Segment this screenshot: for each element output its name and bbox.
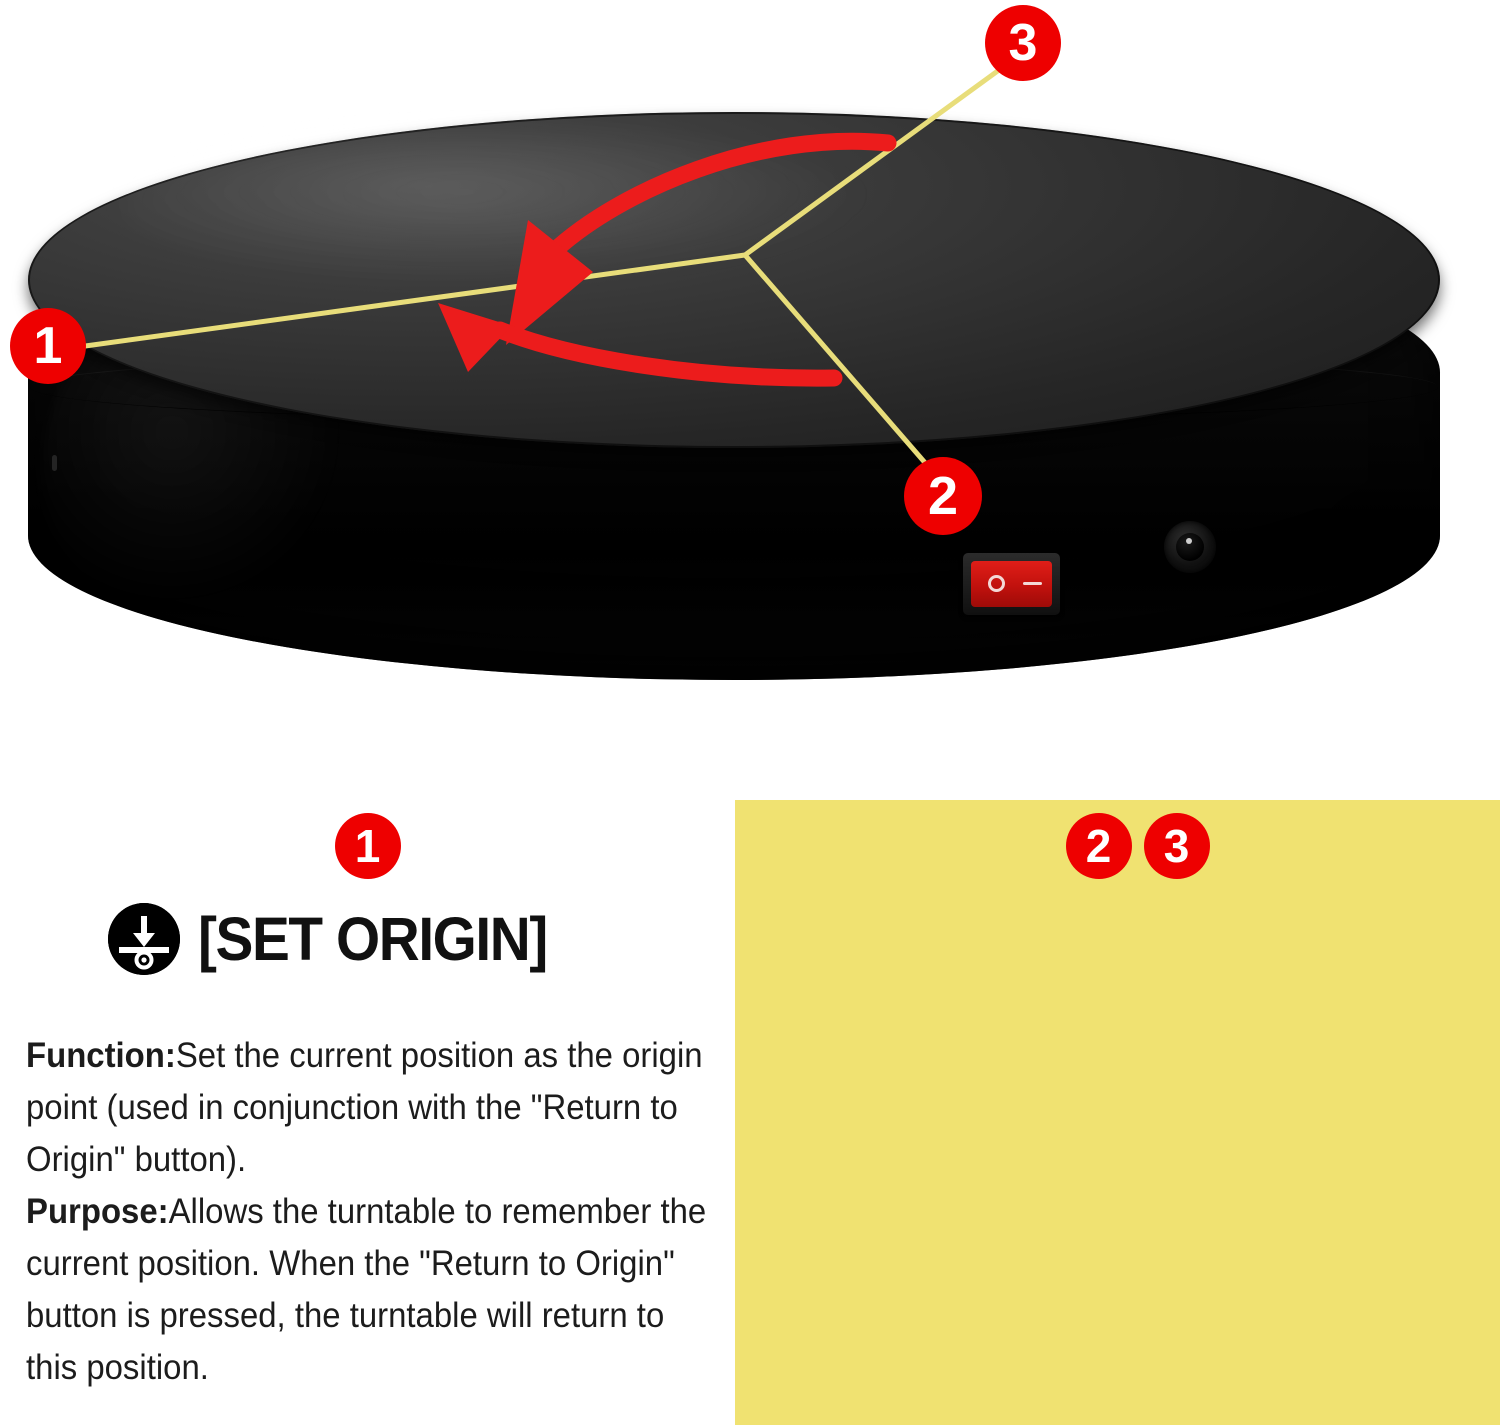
purpose-paragraph-left: Purpose:Allows the turntable to remember…: [26, 1186, 722, 1394]
panel-title-left: [SET ORIGIN]: [198, 904, 547, 974]
panel-body-left: Function:Set the current position as the…: [26, 1030, 722, 1394]
callout-badge-3[interactable]: 3: [985, 5, 1061, 81]
panel-badge-2: 2: [1066, 813, 1132, 879]
function-label-left: Function:: [26, 1036, 176, 1075]
panel-badges-left: 1: [0, 813, 735, 879]
rotation-arrow-lower: [438, 303, 834, 378]
function-paragraph-left: Function:Set the current position as the…: [26, 1030, 722, 1186]
purpose-label-left: Purpose:: [26, 1192, 169, 1231]
panel-return-to-origin: 2 3: [735, 780, 1500, 1425]
leader-line-1: [78, 255, 745, 347]
feature-panels: 1: [0, 780, 1500, 1425]
panel-set-origin: 1: [0, 780, 735, 1425]
product-photo: 1 2 3: [0, 0, 1500, 780]
panel-badge-1: 1: [335, 813, 401, 879]
annotation-overlay: [0, 0, 1500, 780]
callout-badge-1[interactable]: 1: [10, 308, 86, 384]
panel-badges-right: 2 3: [735, 813, 1500, 879]
callout-badge-2[interactable]: 2: [904, 457, 982, 535]
set-origin-icon: [108, 903, 180, 975]
panel-badge-3: 3: [1144, 813, 1210, 879]
rotation-arrow-upper: [506, 141, 888, 345]
leader-line-2: [745, 255, 940, 480]
infographic-root: 1 2 3 1: [0, 0, 1500, 1425]
leader-line-3: [745, 62, 1010, 255]
panel-title-row-left: [SET ORIGIN]: [108, 903, 573, 975]
